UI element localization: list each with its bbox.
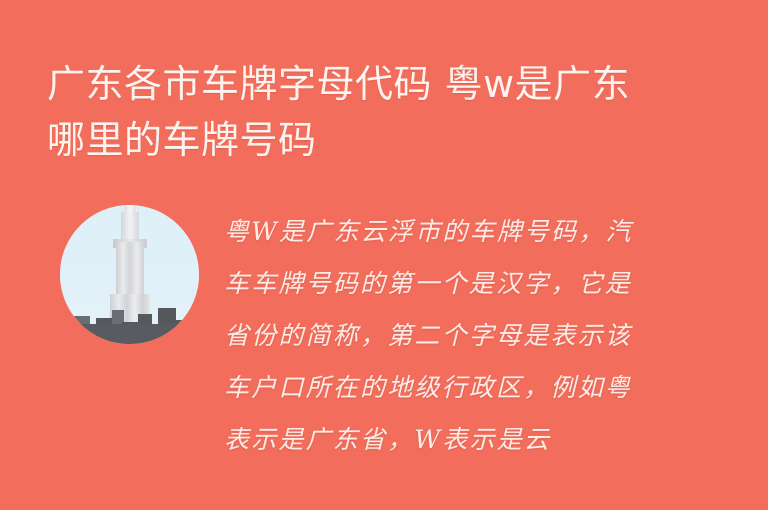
- tower-upper: [121, 212, 139, 242]
- body-text: 粤W是广东云浮市的车牌号码，汽车车牌号码的第一个是汉字，它是省份的简称，第二个字…: [224, 206, 656, 466]
- skyscraper-skyline-icon: [60, 205, 199, 344]
- title-text: 广东各市车牌字母代码 粤w是广东哪里的车牌号码: [47, 56, 647, 168]
- ground-band: [60, 324, 199, 344]
- page-title: 广东各市车牌字母代码 粤w是广东哪里的车牌号码: [47, 56, 647, 168]
- city-skyline: [60, 298, 199, 344]
- article-body: 粤W是广东云浮市的车牌号码，汽车车牌号码的第一个是汉字，它是省份的简称，第二个字…: [224, 206, 656, 466]
- tower-midsection: [116, 242, 144, 294]
- article-thumbnail: [60, 205, 199, 344]
- article-card: 广东各市车牌字母代码 粤w是广东哪里的车牌号码: [0, 0, 768, 510]
